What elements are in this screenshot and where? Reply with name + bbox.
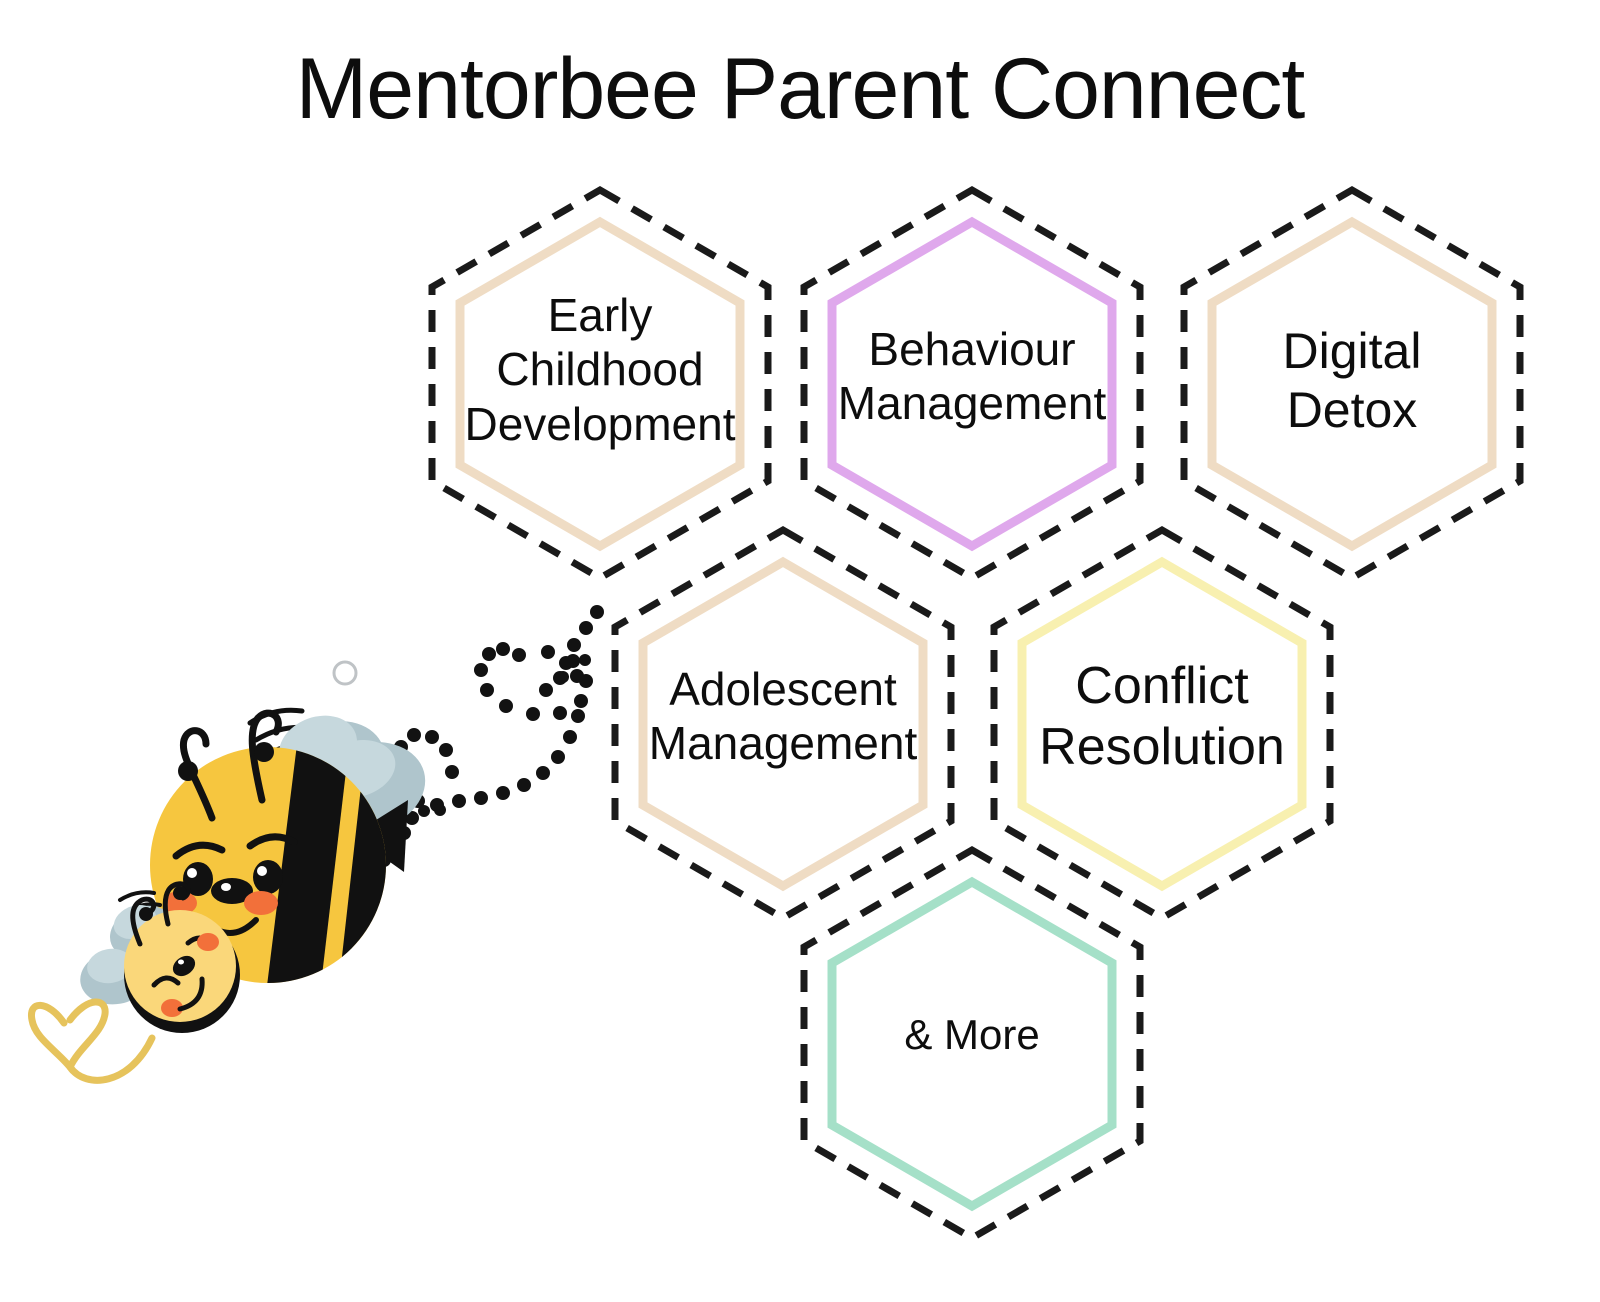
hex-cell-early-childhood-development[interactable] <box>432 190 768 578</box>
hex-cell-and-more[interactable] <box>804 850 1140 1238</box>
flight-trail-dots <box>377 605 604 867</box>
bubble-icon <box>334 662 356 684</box>
hex-cell-behaviour-management[interactable] <box>804 190 1140 578</box>
heart-trail <box>31 1002 152 1080</box>
hex-cell-digital-detox[interactable] <box>1184 190 1520 578</box>
infographic-canvas: Mentorbee Parent Connect <box>0 0 1600 1302</box>
